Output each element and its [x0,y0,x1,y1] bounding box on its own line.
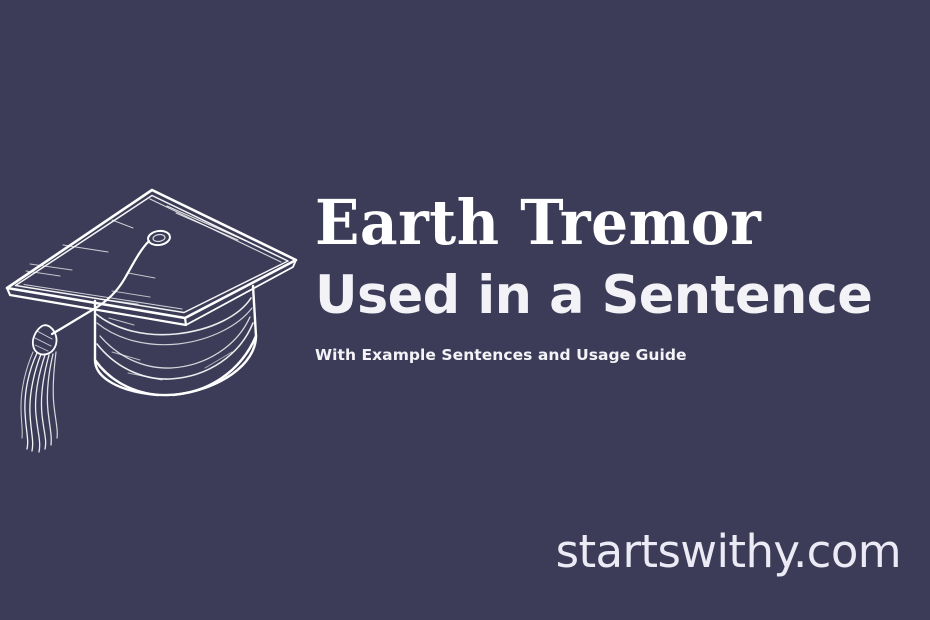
page-subtitle: Used in a Sentence [315,267,909,324]
page-title: Earth Tremor [315,190,879,255]
graduation-cap-icon [0,168,300,453]
headline-block: Earth Tremor Used in a Sentence With Exa… [315,190,915,364]
page-tagline: With Example Sentences and Usage Guide [315,346,915,364]
brand-wordmark: startswithy.com [556,525,901,578]
banner-canvas: Earth Tremor Used in a Sentence With Exa… [0,0,930,620]
